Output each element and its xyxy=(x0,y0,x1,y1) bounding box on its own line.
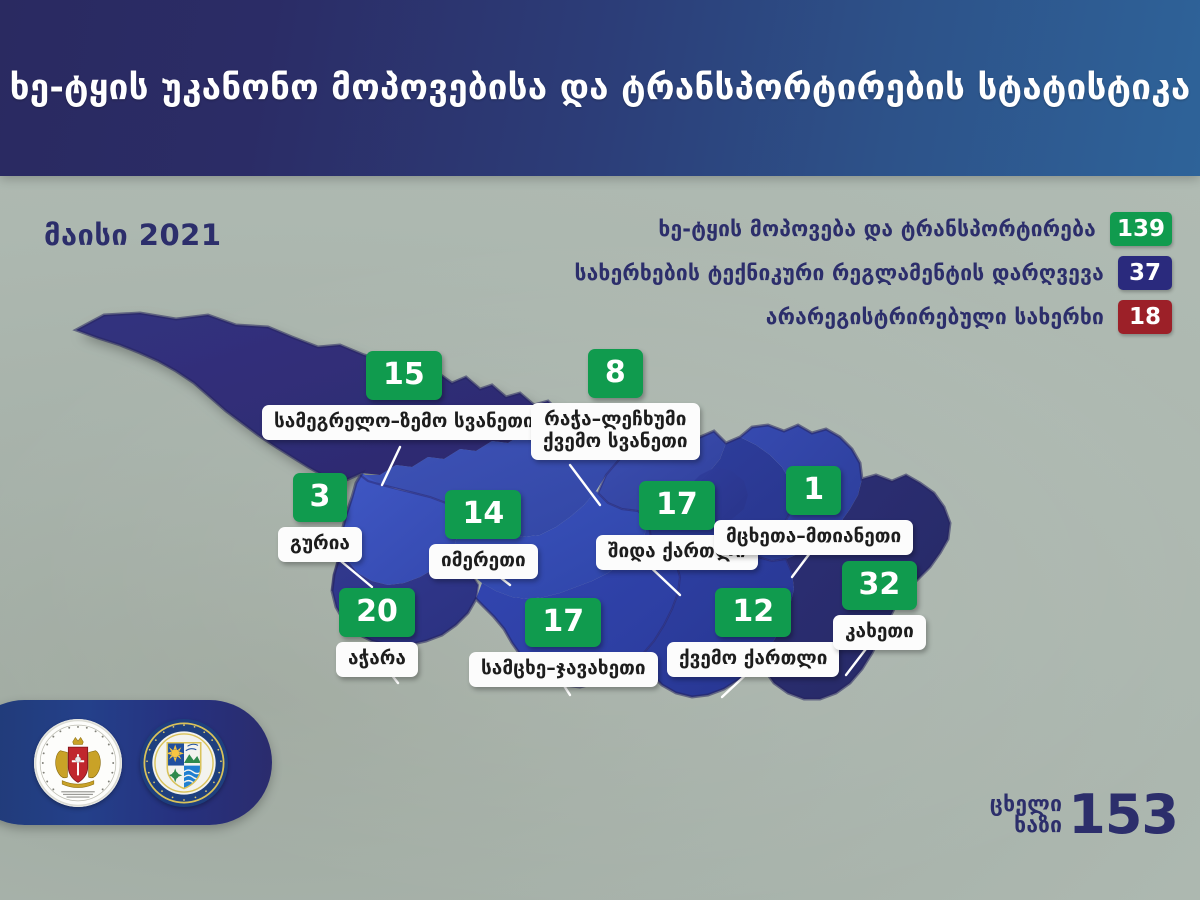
callout-value: 1 xyxy=(786,466,841,515)
callout-racha-lechkhumi-kvemo-svaneti[interactable]: 8 რაჭა–ლეჩხუმი ქვემო სვანეთი xyxy=(531,349,700,460)
supervision-seal-graphic xyxy=(140,719,228,807)
callout-samegrelo-zemo-svaneti[interactable]: 15 სამეგრელო–ზემო სვანეთი xyxy=(262,351,546,440)
callout-value: 8 xyxy=(588,349,643,398)
callout-label: იმერეთი xyxy=(429,544,538,579)
callout-value: 17 xyxy=(525,598,601,647)
logo-pill xyxy=(0,700,272,825)
ministry-of-environmental-protection-and-agriculture-seal xyxy=(34,719,122,807)
hotline-label-line2: ხაზი xyxy=(990,815,1063,836)
page-title: ხე-ტყის უკანონო მოპოვებისა და ტრანსპორტი… xyxy=(0,69,1200,108)
callout-kakheti[interactable]: 32 კახეთი xyxy=(833,561,926,650)
ministry-seal-graphic xyxy=(34,719,122,807)
callout-value: 15 xyxy=(366,351,442,400)
callout-label: რაჭა–ლეჩხუმი ქვემო სვანეთი xyxy=(531,403,700,460)
callout-label: სამცხე–ჯავახეთი xyxy=(469,652,658,687)
callout-label: კახეთი xyxy=(833,615,926,650)
callout-value: 20 xyxy=(339,588,415,637)
callout-adjara[interactable]: 20 აჭარა xyxy=(336,588,418,677)
callout-label: ქვემო ქართლი xyxy=(667,642,839,677)
callout-label: გურია xyxy=(278,527,362,562)
hotline-label-line1: ცხელი xyxy=(990,794,1063,815)
callout-value: 3 xyxy=(293,473,348,522)
hotline-number: 153 xyxy=(1068,790,1178,840)
callout-label: აჭარა xyxy=(336,642,418,677)
callout-label: სამეგრელო–ზემო სვანეთი xyxy=(262,405,546,440)
callout-mtskheta-mtianeti[interactable]: 1 მცხეთა–მთიანეთი xyxy=(714,466,913,555)
callout-samtskhe-javakheti[interactable]: 17 სამცხე–ჯავახეთი xyxy=(469,598,658,687)
callout-value: 14 xyxy=(445,490,521,539)
callout-imereti[interactable]: 14 იმერეთი xyxy=(429,490,538,579)
callout-value: 32 xyxy=(842,561,918,610)
callout-value: 12 xyxy=(715,588,791,637)
hotline: ცხელი ხაზი 153 xyxy=(990,790,1178,840)
callout-label: მცხეთა–მთიანეთი xyxy=(714,520,913,555)
infographic-root: ხე-ტყის უკანონო მოპოვებისა და ტრანსპორტი… xyxy=(0,0,1200,900)
department-of-environmental-supervision-seal xyxy=(140,719,228,807)
callout-guria[interactable]: 3 გურია xyxy=(278,473,362,562)
callout-kvemo-kartli[interactable]: 12 ქვემო ქართლი xyxy=(667,588,839,677)
callout-value: 17 xyxy=(639,481,715,530)
header-banner: ხე-ტყის უკანონო მოპოვებისა და ტრანსპორტი… xyxy=(0,0,1200,176)
hotline-label: ცხელი ხაზი xyxy=(990,794,1063,836)
